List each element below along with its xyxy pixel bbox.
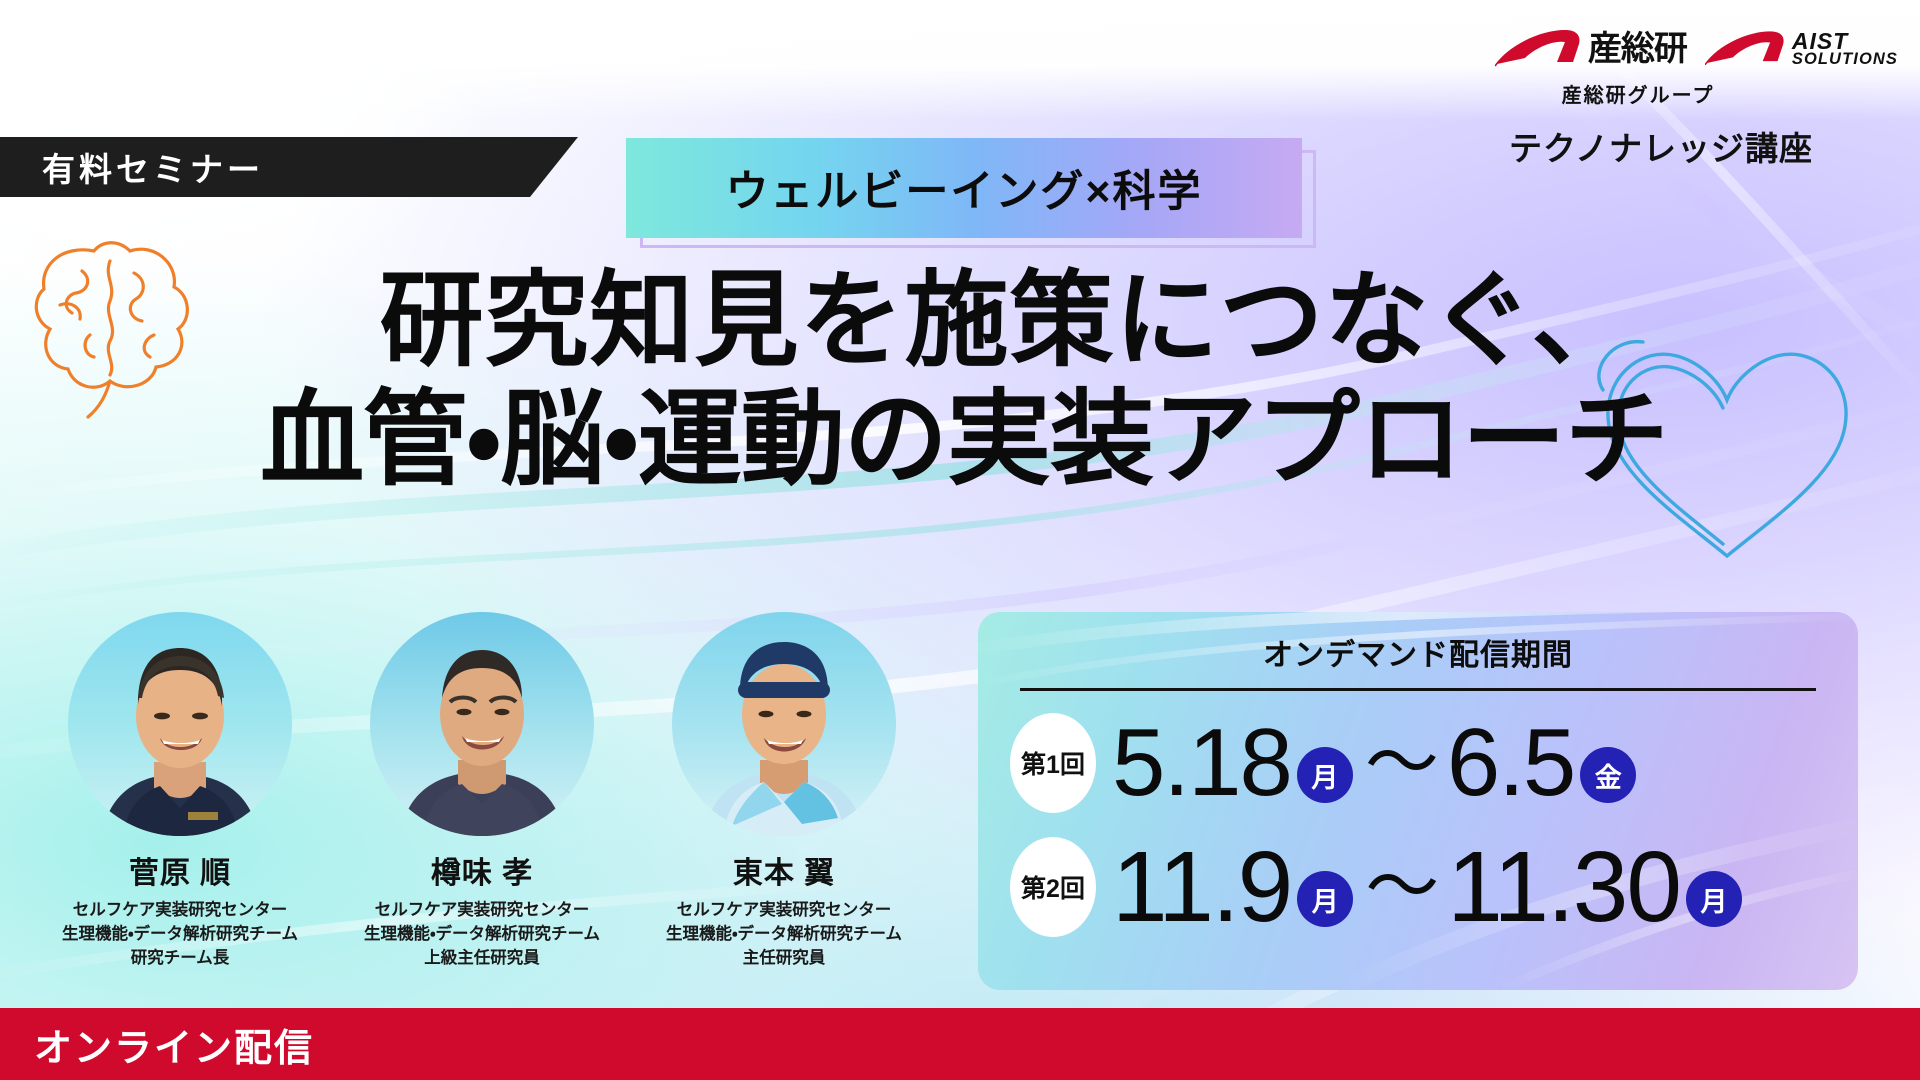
- speaker-affiliation: セルフケア実装研究センター 生理機能・データ解析研究チーム 上級主任研究員: [342, 899, 622, 971]
- speaker-affiliation-line1: セルフケア実装研究センター: [342, 899, 622, 923]
- speaker-affiliation-line3: 主任研究員: [644, 947, 924, 971]
- speaker-name: 菅原 順: [40, 848, 320, 892]
- brand-logo-area: 産総研 AIST SOLUTIONS 産総研グループ テクノナレッジ講座: [1428, 22, 1898, 170]
- session-badge: 第1回: [1010, 713, 1096, 813]
- speaker-card: 菅原 順 セルフケア実装研究センター 生理機能・データ解析研究チーム 研究チーム…: [40, 612, 320, 971]
- headline-line-1: 研究知見を施策につなぐ、: [0, 262, 1920, 381]
- avatar: [68, 612, 292, 836]
- schedule-row: 第1回 5.18 月 ～ 6.5 金: [978, 701, 1858, 825]
- session-start-dow-badge: 月: [1297, 871, 1353, 927]
- speaker-card: 東本 翼 セルフケア実装研究センター 生理機能・データ解析研究チーム 主任研究員: [644, 612, 924, 971]
- speaker-portrait-1: [68, 612, 292, 836]
- logo-row: 産総研 AIST SOLUTIONS: [1428, 22, 1898, 76]
- avatar: [370, 612, 594, 836]
- speaker-affiliation-line2: 生理機能・データ解析研究チーム: [342, 923, 622, 947]
- speaker-affiliation-line1: セルフケア実装研究センター: [644, 899, 924, 923]
- schedule-row: 第2回 11.9 月 ～ 11.30 月: [978, 825, 1858, 949]
- speaker-card: 樽味 孝 セルフケア実装研究センター 生理機能・データ解析研究チーム 上級主任研…: [342, 612, 622, 971]
- avatar: [672, 612, 896, 836]
- session-end-date: 6.5: [1447, 715, 1574, 811]
- session-end-dow-badge: 金: [1580, 747, 1636, 803]
- speaker-affiliation: セルフケア実装研究センター 生理機能・データ解析研究チーム 主任研究員: [644, 899, 924, 971]
- speaker-name: 東本 翼: [644, 848, 924, 892]
- speaker-affiliation-line3: 研究チーム長: [40, 947, 320, 971]
- session-end-dow-badge: 月: [1686, 871, 1742, 927]
- session-badge: 第2回: [1010, 837, 1096, 937]
- aist-solutions-logo: AIST SOLUTIONS: [1705, 31, 1898, 67]
- session-start-date: 11.9: [1112, 837, 1291, 937]
- session-date-range: 5.18 月 ～ 6.5 金: [1112, 715, 1640, 811]
- aist-solutions-line1: AIST: [1792, 31, 1898, 52]
- theme-chip-label: ウェルビーイング×科学: [725, 157, 1202, 219]
- speaker-portrait-2: [370, 612, 594, 836]
- speaker-affiliation-line2: 生理機能・データ解析研究チーム: [644, 923, 924, 947]
- date-range-separator: ～: [1365, 726, 1439, 800]
- date-range-separator: ～: [1365, 850, 1439, 924]
- aist-solutions-logo-text: AIST SOLUTIONS: [1792, 31, 1898, 67]
- speaker-affiliation-line2: 生理機能・データ解析研究チーム: [40, 923, 320, 947]
- course-title: テクノナレッジ講座: [1428, 122, 1894, 170]
- speakers-list: 菅原 順 セルフケア実装研究センター 生理機能・データ解析研究チーム 研究チーム…: [40, 612, 970, 971]
- speaker-portrait-3: [672, 612, 896, 836]
- theme-chip-wrapper: ウェルビーイング×科学: [626, 138, 1316, 238]
- speaker-affiliation: セルフケア実装研究センター 生理機能・データ解析研究チーム 研究チーム長: [40, 899, 320, 971]
- aist-solutions-swoosh-icon: [1705, 31, 1785, 67]
- online-delivery-label: オンライン配信: [34, 1017, 314, 1072]
- theme-chip: ウェルビーイング×科学: [626, 138, 1302, 238]
- paid-seminar-ribbon: 有料セミナー: [0, 137, 578, 197]
- speaker-affiliation-line3: 上級主任研究員: [342, 947, 622, 971]
- speaker-affiliation-line1: セルフケア実装研究センター: [40, 899, 320, 923]
- headline-line-2: 血管・脳・運動の実装アプローチ: [0, 381, 1920, 500]
- session-start-date: 5.18: [1112, 715, 1291, 811]
- group-label: 産総研グループ: [1428, 79, 1848, 108]
- poster-canvas: 産総研 AIST SOLUTIONS 産総研グループ テクノナレッジ講座 有料セ…: [0, 0, 1920, 1080]
- paid-seminar-label: 有料セミナー: [42, 143, 264, 191]
- aist-solutions-line2: SOLUTIONS: [1792, 52, 1898, 67]
- online-delivery-banner: オンライン配信: [0, 1008, 1920, 1080]
- schedule-heading: オンデマンド配信期間: [978, 612, 1858, 674]
- session-date-range: 11.9 月 ～ 11.30 月: [1112, 837, 1746, 937]
- aist-jp-logo: 産総研: [1495, 30, 1687, 68]
- aist-jp-logo-text: 産総研: [1588, 32, 1687, 66]
- speaker-name: 樽味 孝: [342, 848, 622, 892]
- page-title: 研究知見を施策につなぐ、 血管・脳・運動の実装アプローチ: [0, 262, 1920, 499]
- session-end-date: 11.30: [1447, 837, 1680, 937]
- session-start-dow-badge: 月: [1297, 747, 1353, 803]
- schedule-panel: オンデマンド配信期間 第1回 5.18 月 ～ 6.5 金 第2回 11.9 月…: [978, 612, 1858, 990]
- aist-swoosh-icon: [1495, 30, 1581, 68]
- schedule-rows: 第1回 5.18 月 ～ 6.5 金 第2回 11.9 月 ～ 11.30 月: [978, 691, 1858, 949]
